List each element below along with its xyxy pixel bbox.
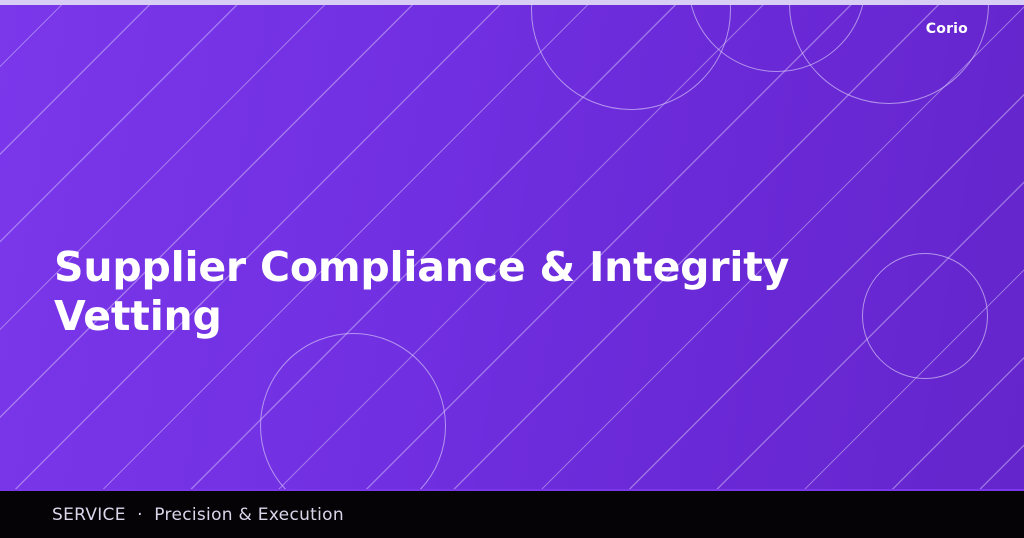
decorative-circle-outline	[789, 0, 989, 104]
slide-stage: Corio Supplier Compliance & Integrity Ve…	[0, 0, 1024, 489]
decorative-circle-outline	[688, 0, 866, 72]
top-accent-rule	[0, 0, 1024, 5]
decorative-circle-outline	[531, 0, 731, 110]
decorative-circle-outline	[260, 333, 446, 489]
brand-logo: Corio	[926, 21, 968, 37]
slide-footer: SERVICE · Precision & Execution	[0, 489, 1024, 538]
slide-title: Supplier Compliance & Integrity Vetting	[54, 243, 954, 340]
title-slide: Corio Supplier Compliance & Integrity Ve…	[0, 0, 1024, 538]
footer-caption: SERVICE · Precision & Execution	[52, 505, 344, 525]
